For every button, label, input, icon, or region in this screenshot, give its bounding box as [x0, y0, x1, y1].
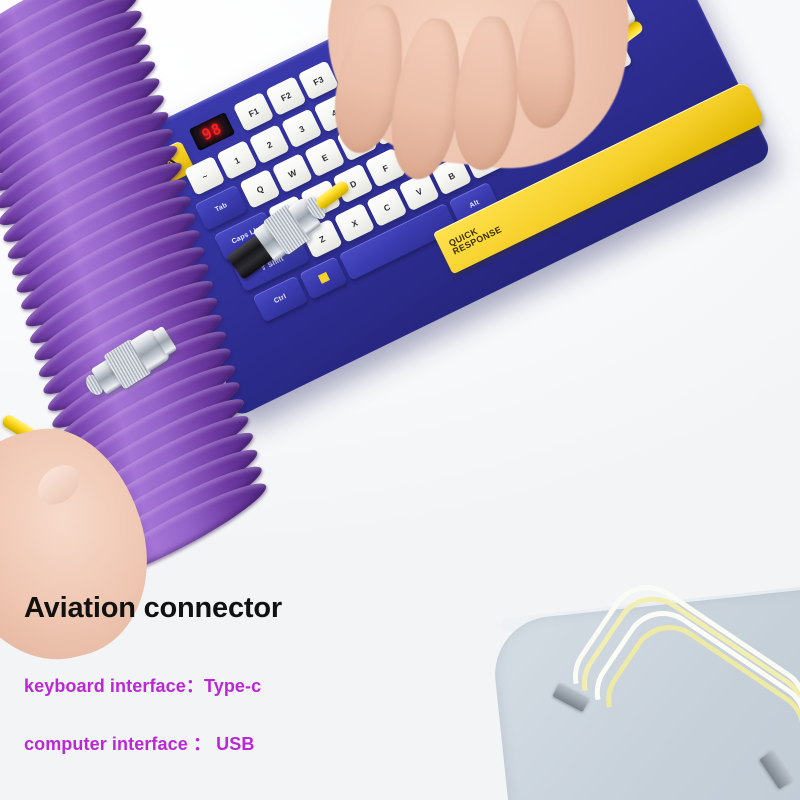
product-photo-scene: 98 F1 F2 F3 F4 F5 F6 F7 F8 F9 F10 F11 ~ … — [0, 0, 800, 800]
usb-cable-bundle — [560, 612, 800, 800]
finger — [515, 0, 577, 129]
overlay-spec-keyboard-interface: keyboard interface：Type-c — [24, 672, 261, 698]
finger — [449, 14, 524, 173]
overlay-spec-computer-interface: computer interface ： USB — [24, 730, 254, 756]
thumbnail — [30, 457, 87, 513]
accent-bar-text: QUICK RESPONSE — [448, 217, 504, 257]
overlay-title: Aviation connector — [24, 592, 282, 625]
